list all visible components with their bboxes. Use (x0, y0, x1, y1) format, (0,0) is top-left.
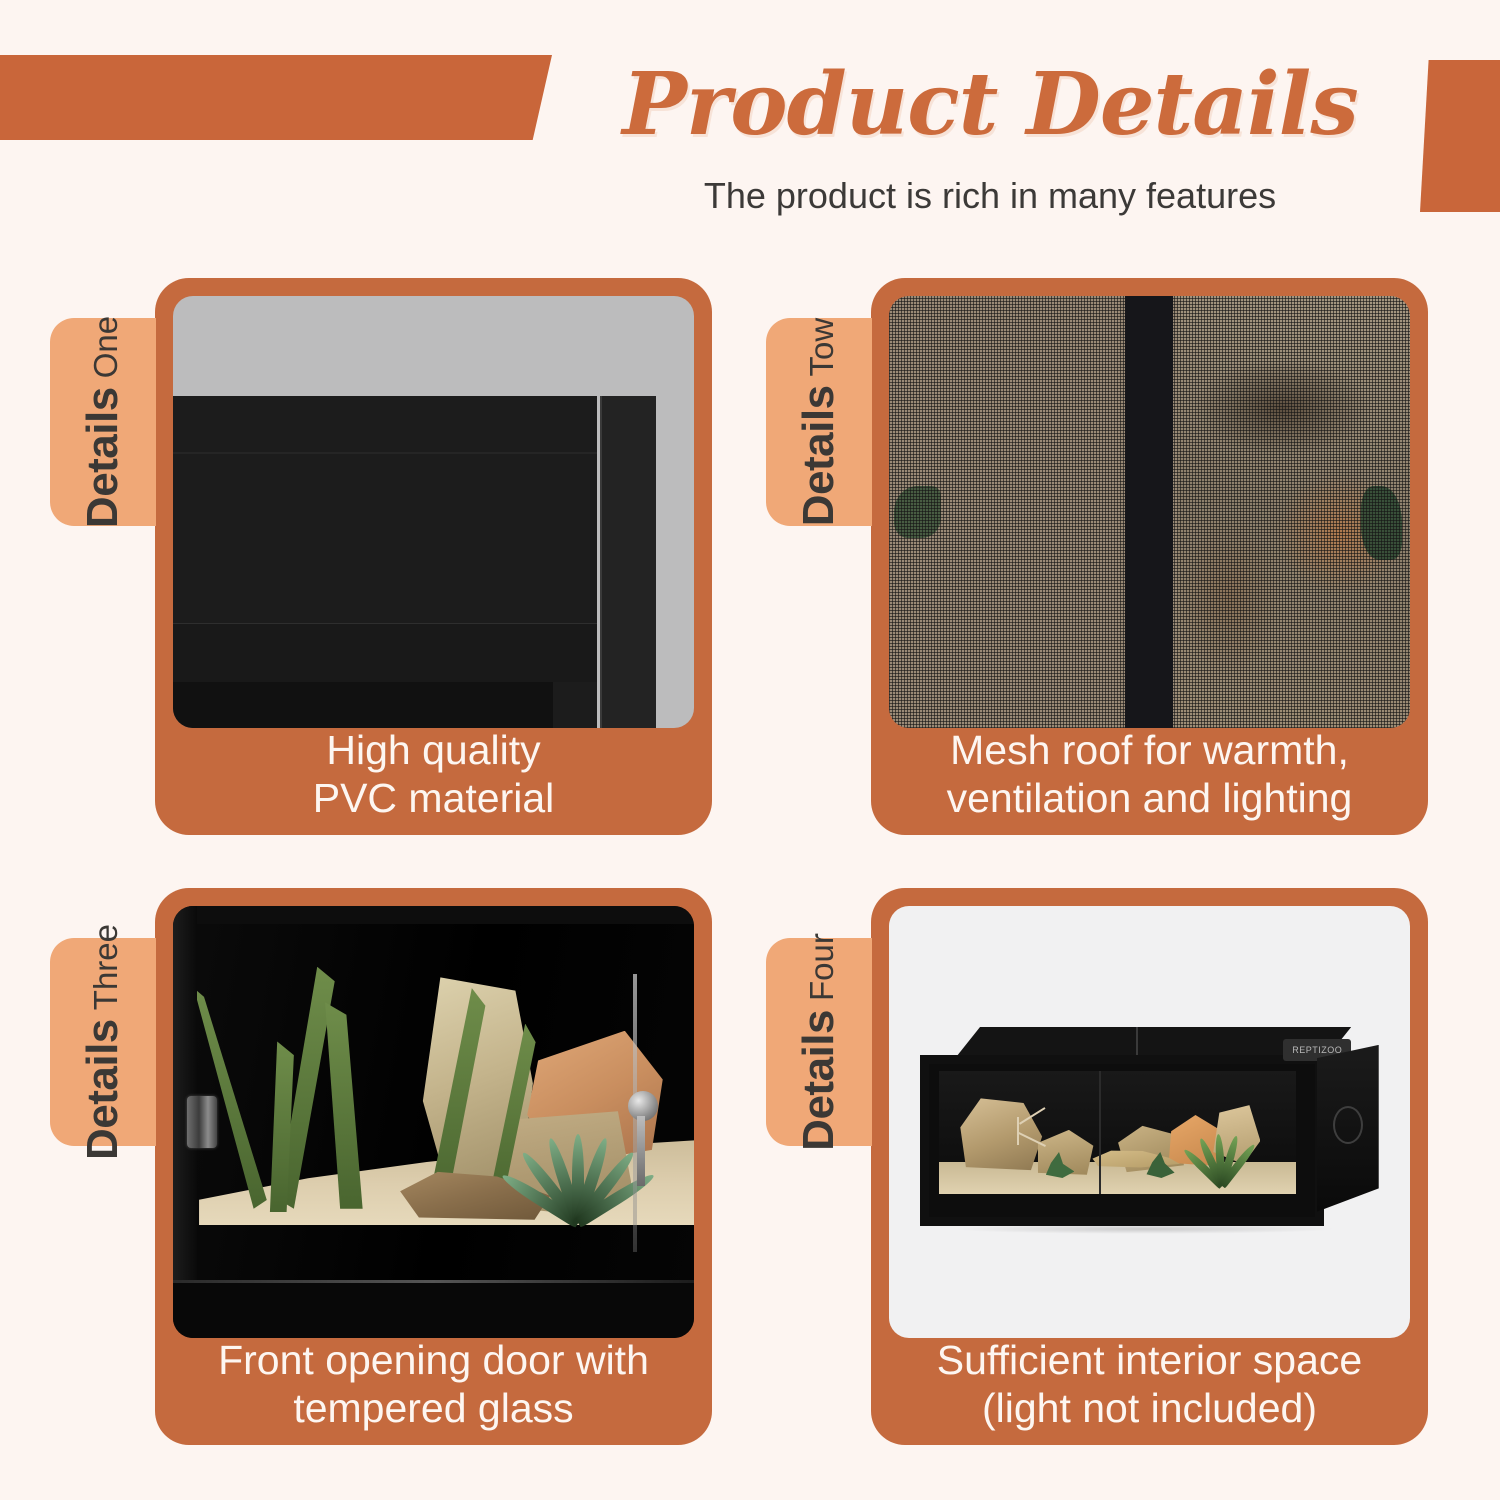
badge-label-tow: Details (794, 385, 844, 526)
card-one-caption: High quality PVC material (155, 713, 712, 835)
card-tow-photo (889, 296, 1410, 728)
page-subtitle: The product is rich in many features (560, 175, 1420, 217)
card-three-caption: Front opening door with tempered glass (155, 1323, 712, 1445)
card-one-photo (173, 296, 694, 728)
badge-details-one: Details One (50, 318, 156, 526)
detail-card-one[interactable]: High quality PVC material (155, 278, 712, 835)
side-vent-icon (1333, 1106, 1363, 1144)
pvc-panel-lower (173, 623, 597, 682)
terrarium-tank: REPTIZOO (920, 1027, 1378, 1226)
badge-label-four: Details (794, 1010, 844, 1151)
header-banner-left (0, 55, 552, 140)
detail-card-four[interactable]: REPTIZOO Sufficient interior space (ligh… (871, 888, 1428, 1445)
badge-details-three: Details Three (50, 938, 156, 1146)
detail-card-three[interactable]: Front opening door with tempered glass (155, 888, 712, 1445)
tank-top-frame (173, 906, 694, 924)
card-four-caption: Sufficient interior space (light not inc… (871, 1323, 1428, 1445)
card-three-photo (173, 906, 694, 1338)
badge-index-tow: Tow (803, 318, 841, 377)
header-banner-right (1420, 60, 1500, 212)
badge-inner-four: Details Four (794, 933, 844, 1151)
badge-label-one: Details (78, 387, 128, 528)
page-header: Product Details The product is rich in m… (0, 0, 1500, 240)
detail-card-tow[interactable]: Mesh roof for warmth, ventilation and li… (871, 278, 1428, 835)
tempered-glass-pane (173, 924, 694, 1280)
badge-index-three: Three (87, 924, 125, 1010)
tank-branch (1017, 1117, 1069, 1144)
badge-inner-tow: Details Tow (794, 318, 844, 526)
card-four-photo: REPTIZOO (889, 906, 1410, 1338)
badge-label-three: Details (78, 1019, 128, 1160)
tank-shadow (952, 1224, 1337, 1234)
tank-front-glass (939, 1071, 1297, 1194)
card-tow-caption: Mesh roof for warmth, ventilation and li… (871, 713, 1428, 835)
badge-inner-three: Details Three (78, 924, 128, 1160)
badge-details-tow: Details Tow (766, 318, 872, 526)
badge-details-four: Details Four (766, 938, 872, 1146)
badge-inner-one: Details One (78, 316, 128, 528)
tank-aloe-plant (1189, 1127, 1253, 1186)
pvc-edge-strip (600, 396, 656, 728)
badge-index-four: Four (803, 933, 841, 1001)
page-title: Product Details (560, 62, 1420, 148)
mesh-roof-scene (889, 296, 1410, 728)
door-handle-icon[interactable] (187, 1096, 217, 1148)
zebra-succulent (527, 1109, 616, 1223)
mesh-center-bar (1125, 296, 1173, 728)
tank-glass-seam (1099, 1071, 1101, 1194)
lock-shaft (637, 1116, 645, 1186)
badge-index-one: One (87, 316, 125, 378)
